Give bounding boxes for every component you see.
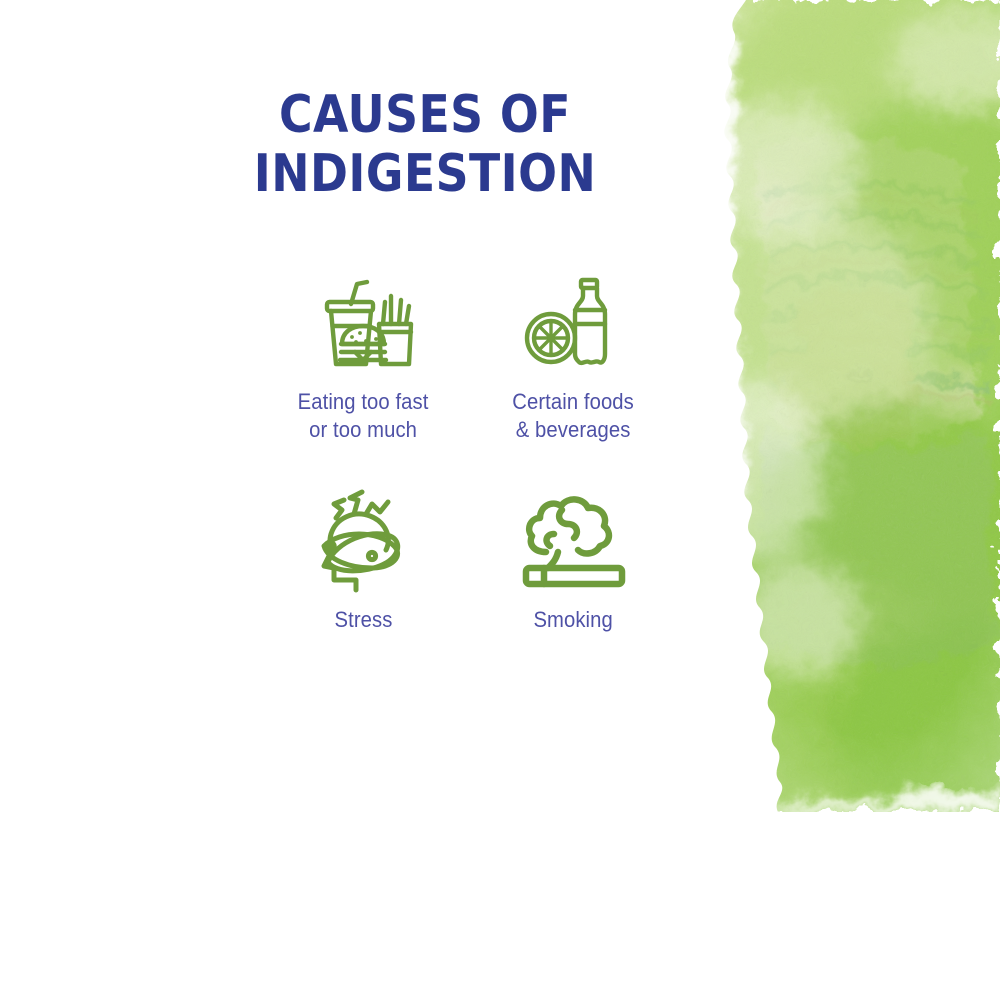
cause-item-eating-too-fast: Eating too fast or too much [258, 268, 468, 486]
infographic-poster: CAUSES OF INDIGESTION [0, 0, 1000, 1000]
causes-grid: Eating too fast or too much [258, 268, 678, 704]
cause-item-certain-foods: Certain foods & beverages [468, 268, 678, 486]
stressed-head-icon [314, 486, 412, 590]
cigarette-smoke-icon [518, 486, 628, 590]
page-title-line-1: CAUSES OF [218, 86, 632, 145]
cause-label-smoking: Smoking [533, 606, 612, 634]
cause-item-smoking: Smoking [468, 486, 678, 704]
fast-food-icon [311, 268, 415, 372]
cause-label-certain-foods: Certain foods & beverages [512, 388, 634, 444]
soda-bottle-lime-icon [523, 268, 623, 372]
cause-label-eating-too-fast: Eating too fast or too much [298, 388, 429, 444]
page-title-line-2: INDIGESTION [218, 145, 632, 204]
photo-panel [660, 0, 1000, 812]
cause-label-stress: Stress [334, 606, 392, 634]
page-title: CAUSES OF INDIGESTION [218, 86, 632, 205]
cause-item-stress: Stress [258, 486, 468, 704]
